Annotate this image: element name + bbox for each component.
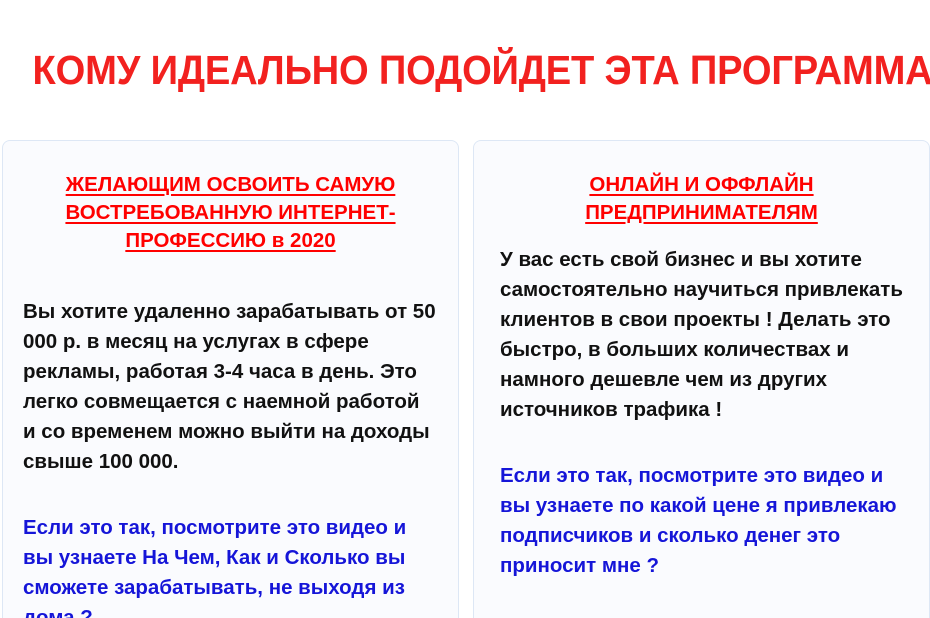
audience-card-right-title: ОНЛАЙН И ОФФЛАЙН ПРЕДПРИНИМАТЕЛЯМ xyxy=(494,141,909,227)
audience-card-right-body: У вас есть свой бизнес и вы хотите самос… xyxy=(494,245,909,581)
audience-card-left: ЖЕЛАЮЩИМ ОСВОИТЬ САМУЮ ВОСТРЕБОВАННУЮ ИН… xyxy=(2,140,459,618)
page-root: КОМУ ИДЕАЛЬНО ПОДОЙДЕТ ЭТА ПРОГРАММА? ЖЕ… xyxy=(0,0,930,618)
audience-card-right-paragraph-primary: У вас есть свой бизнес и вы хотите самос… xyxy=(500,245,907,425)
audience-card-left-paragraph-primary: Вы хотите удаленно зарабатывать от 50 00… xyxy=(23,297,436,477)
audience-card-left-title: ЖЕЛАЮЩИМ ОСВОИТЬ САМУЮ ВОСТРЕБОВАННУЮ ИН… xyxy=(23,141,438,255)
audience-cards-row: ЖЕЛАЮЩИМ ОСВОИТЬ САМУЮ ВОСТРЕБОВАННУЮ ИН… xyxy=(2,140,930,618)
audience-card-left-paragraph-callout: Если это так, посмотрите это видео и вы … xyxy=(23,513,436,618)
audience-card-right-paragraph-callout: Если это так, посмотрите это видео и вы … xyxy=(500,461,907,581)
audience-card-left-body: Вы хотите удаленно зарабатывать от 50 00… xyxy=(23,297,438,618)
page-title: КОМУ ИДЕАЛЬНО ПОДОЙДЕТ ЭТА ПРОГРАММА? xyxy=(33,47,898,93)
audience-card-right: ОНЛАЙН И ОФФЛАЙН ПРЕДПРИНИМАТЕЛЯМ У вас … xyxy=(473,140,930,618)
